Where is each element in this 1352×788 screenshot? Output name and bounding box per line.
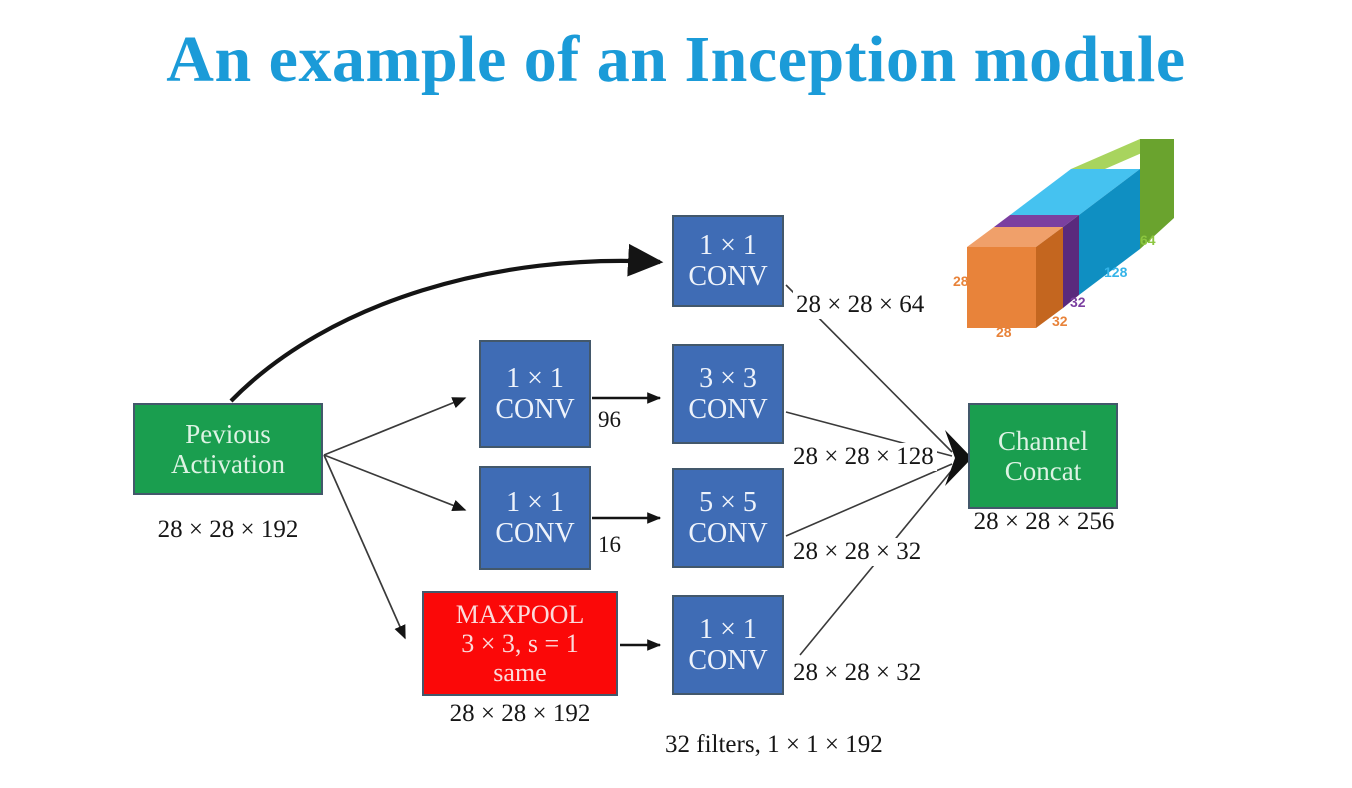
node-previous-activation-line1: Pevious (185, 419, 271, 449)
node-conv-5x5[interactable]: 5 × 5 CONV (672, 468, 784, 568)
node-previous-activation[interactable]: Pevious Activation (133, 403, 323, 495)
node-conv-1x1-top[interactable]: 1 × 1 CONV (672, 215, 784, 307)
node-conv-5x5-line1: 5 × 5 (699, 487, 757, 518)
node-channel-concat-line1: Channel (998, 426, 1088, 456)
volume-label-depth-5x5: 32 (1070, 294, 1086, 310)
node-maxpool[interactable]: MAXPOOL 3 × 3, s = 1 same (422, 591, 618, 696)
node-conv-3x3-line2: CONV (688, 394, 767, 425)
page-title: An example of an Inception module (0, 22, 1352, 98)
node-conv-1x1-branch2[interactable]: 1 × 1 CONV (479, 340, 591, 448)
label-output-conv-5x5: 28 × 28 × 32 (790, 538, 924, 566)
caption-previous-activation: 28 × 28 × 192 (133, 516, 323, 544)
node-conv-1x1-branch2-line1: 1 × 1 (506, 363, 564, 394)
volume-label-depth-3x3: 128 (1104, 264, 1127, 280)
slide-canvas: An example of an Inception module (0, 0, 1352, 788)
edge-prev-to-conv1x1-branch2 (324, 398, 465, 455)
node-conv-1x1-branch3[interactable]: 1 × 1 CONV (479, 466, 591, 570)
node-conv-3x3-line1: 3 × 3 (699, 363, 757, 394)
edge-prev-to-maxpool (324, 455, 405, 638)
caption-maxpool: 28 × 28 × 192 (422, 700, 618, 728)
node-conv-1x1-top-line2: CONV (688, 261, 767, 292)
annotation-filters-note: 32 filters, 1 × 1 × 192 (665, 731, 883, 759)
node-channel-concat[interactable]: Channel Concat (968, 403, 1118, 509)
label-filters-branch3: 16 (598, 532, 621, 558)
label-filters-branch2: 96 (598, 407, 621, 433)
label-output-conv-1x1-branch4: 28 × 28 × 32 (790, 659, 924, 687)
label-output-conv-3x3: 28 × 28 × 128 (790, 443, 937, 471)
node-conv-1x1-branch2-line2: CONV (495, 394, 574, 425)
node-conv-1x1-branch4[interactable]: 1 × 1 CONV (672, 595, 784, 695)
node-maxpool-line1: MAXPOOL (456, 600, 585, 629)
node-conv-5x5-line2: CONV (688, 518, 767, 549)
node-channel-concat-line2: Concat (1005, 456, 1081, 486)
volume-label-depth-pool: 32 (1052, 313, 1068, 329)
node-maxpool-line3: same (493, 658, 546, 687)
edge-conv5x5-to-concat (786, 464, 952, 536)
node-conv-1x1-branch4-line2: CONV (688, 645, 767, 676)
edge-prev-to-conv1x1-branch3 (324, 455, 465, 510)
node-conv-1x1-branch4-line1: 1 × 1 (699, 614, 757, 645)
node-conv-1x1-top-line1: 1 × 1 (699, 230, 757, 261)
caption-channel-concat: 28 × 28 × 256 (958, 508, 1130, 536)
edge-prev-to-conv1x1-top (231, 261, 660, 401)
volume-label-height: 28 (953, 273, 969, 289)
volume-segment-pool-front-face (967, 247, 1036, 328)
node-conv-1x1-branch3-line2: CONV (495, 518, 574, 549)
volume-label-width: 28 (996, 324, 1012, 340)
node-maxpool-line2: 3 × 3, s = 1 (461, 629, 578, 658)
node-conv-3x3[interactable]: 3 × 3 CONV (672, 344, 784, 444)
volume-label-depth-1x1: 64 (1140, 232, 1156, 248)
node-previous-activation-line2: Activation (171, 449, 285, 479)
node-conv-1x1-branch3-line1: 1 × 1 (506, 487, 564, 518)
label-output-conv-1x1-top: 28 × 28 × 64 (793, 291, 927, 319)
